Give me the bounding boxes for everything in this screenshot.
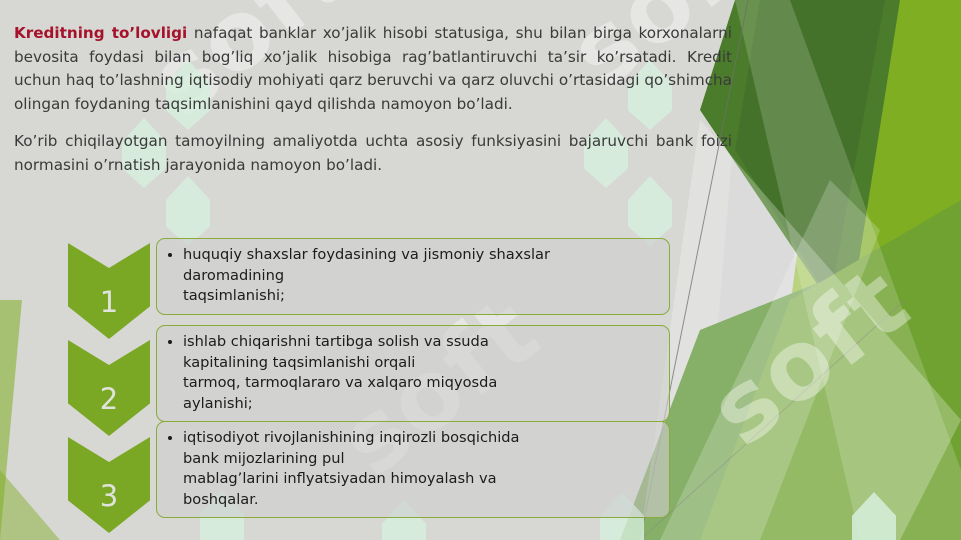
- presentation-slide: soft soft soft soft Kreditning to’lovlig…: [0, 0, 961, 540]
- step-line: ishlab chiqarishni tartibga solish va ss…: [183, 332, 659, 353]
- step-list-1: huquqiy shaxslar foydasining va jismoniy…: [167, 245, 659, 307]
- step-line: aylanishi;: [183, 394, 659, 415]
- step-callout-3: iqtisodiyot rivojlanishining inqirozli b…: [156, 421, 670, 518]
- step-chevron-1: 1: [68, 243, 150, 339]
- paragraph-one: Kreditning to’lovligi nafaqat banklar xo…: [14, 22, 732, 116]
- step-line: daromadining: [183, 266, 659, 287]
- step-callout-1: huquqiy shaxslar foydasining va jismoniy…: [156, 238, 670, 315]
- lead-term: Kreditning to’lovligi: [14, 24, 187, 42]
- step-line: mablag’larini inflyatsiyadan himoyalash …: [183, 469, 659, 490]
- step-line: boshqalar.: [183, 490, 659, 511]
- step-line: bank mijozlarining pul: [183, 449, 659, 470]
- step-number-3: 3: [100, 482, 118, 533]
- watermark-text: soft: [689, 245, 930, 468]
- step-callout-2: ishlab chiqarishni tartibga solish va ss…: [156, 325, 670, 422]
- step-list-2: ishlab chiqarishni tartibga solish va ss…: [167, 332, 659, 414]
- list-item: ishlab chiqarishni tartibga solish va ss…: [183, 332, 659, 414]
- step-number-1: 1: [100, 288, 118, 339]
- slide-body-text: Kreditning to’lovligi nafaqat banklar xo…: [14, 22, 732, 183]
- watermark-hex-icon: [628, 176, 672, 246]
- step-line: taqsimlanishi;: [183, 286, 659, 307]
- step-chevron-2: 2: [68, 340, 150, 436]
- list-item: huquqiy shaxslar foydasining va jismoniy…: [183, 245, 659, 307]
- watermark-hex-icon: [852, 492, 896, 540]
- step-line: tarmoq, tarmoqlararo va xalqaro miqyosda: [183, 373, 659, 394]
- step-number-2: 2: [100, 385, 118, 436]
- paragraph-two: Ko’rib chiqilayotgan tamoyilning amaliyo…: [14, 130, 732, 177]
- watermark-hex-icon: [166, 176, 210, 246]
- step-line: iqtisodiyot rivojlanishining inqirozli b…: [183, 428, 659, 449]
- step-line: kapitalining taqsimlanishi orqali: [183, 353, 659, 374]
- step-list-3: iqtisodiyot rivojlanishining inqirozli b…: [167, 428, 659, 510]
- list-item: iqtisodiyot rivojlanishining inqirozli b…: [183, 428, 659, 510]
- step-chevron-3: 3: [68, 437, 150, 533]
- step-line: huquqiy shaxslar foydasining va jismoniy…: [183, 245, 659, 266]
